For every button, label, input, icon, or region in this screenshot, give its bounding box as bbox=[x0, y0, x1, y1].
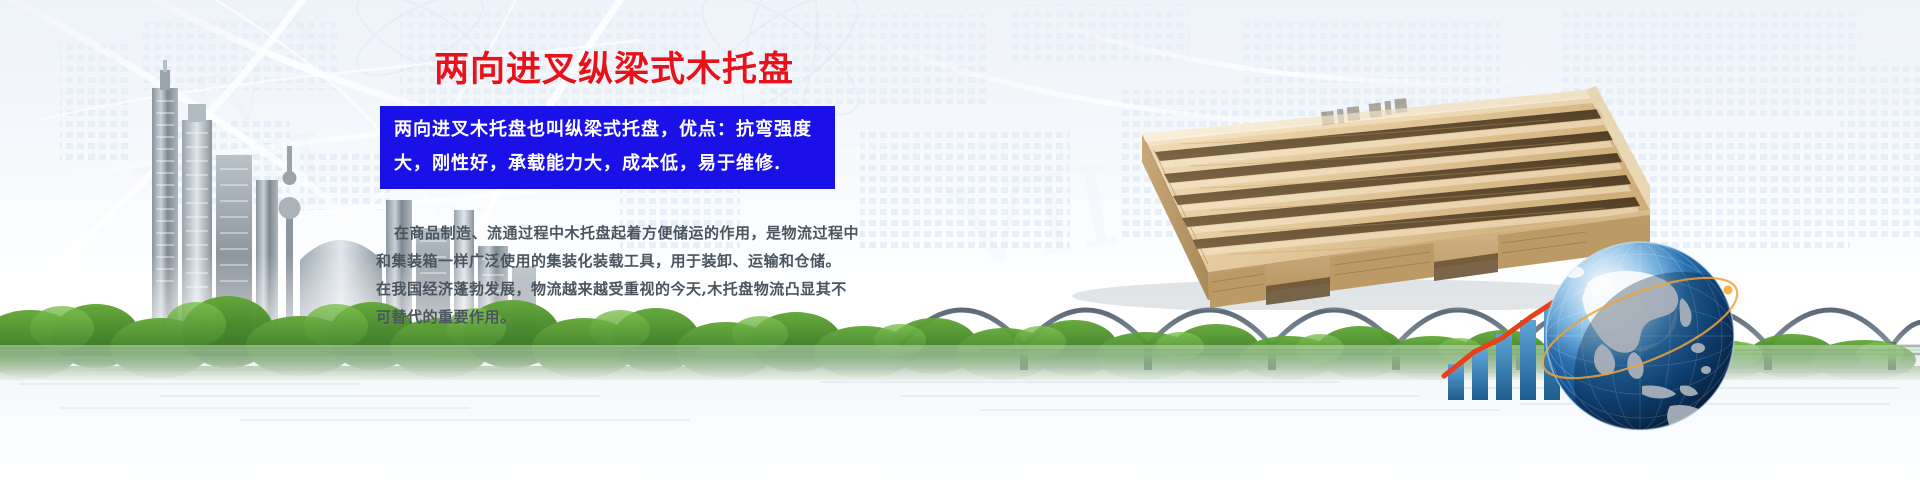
dotted-world-map-texture bbox=[0, 0, 1920, 330]
svg-text:IV: IV bbox=[184, 52, 277, 147]
earth-globe-illustration bbox=[1530, 228, 1750, 448]
arch-bridge-illustration bbox=[900, 250, 1920, 370]
svg-text:VIII: VIII bbox=[130, 109, 342, 263]
highlight-line-1: 两向进叉木托盘也叫纵梁式托盘，优点：抗弯强度 bbox=[394, 113, 823, 147]
banner-text-block: 两向进叉纵梁式木托盘 两向进叉木托盘也叫纵梁式托盘，优点：抗弯强度 大，刚性好，… bbox=[370, 50, 850, 331]
product-banner: VIII IV X VII II bbox=[0, 0, 1920, 500]
description-paragraph: 在商品制造、流通过程中木托盘起着方便储运的作用，是物流过程中 和集装箱一样广泛使… bbox=[376, 219, 846, 331]
watermark-glyphs: VIII IV X VII II bbox=[0, 0, 1920, 340]
svg-text:II: II bbox=[1157, 126, 1235, 229]
growth-bar-chart-icon bbox=[1440, 290, 1590, 400]
highlight-line-2: 大，刚性好，承载能力大，成本低，易于维修. bbox=[394, 147, 823, 181]
water-reflection-band bbox=[0, 345, 1920, 500]
description-line-4: 可替代的重要作用。 bbox=[376, 303, 846, 331]
svg-text:VII: VII bbox=[940, 141, 1128, 296]
tree-line-foliage bbox=[0, 270, 1920, 380]
water-ripple-streaks bbox=[0, 340, 1920, 460]
description-line-2: 和集装箱一样广泛使用的集装化装载工具，用于装卸、运输和仓储。 bbox=[376, 247, 846, 275]
description-line-1: 在商品制造、流通过程中木托盘起着方便储运的作用，是物流过程中 bbox=[376, 219, 846, 247]
description-line-3: 在我国经济蓬勃发展，物流越来越受重视的今天,木托盘物流凸显其不 bbox=[376, 275, 846, 303]
wooden-pallet-product-image bbox=[1030, 60, 1650, 310]
svg-text:X: X bbox=[282, 0, 336, 75]
highlight-callout-box: 两向进叉木托盘也叫纵梁式托盘，优点：抗弯强度 大，刚性好，承载能力大，成本低，易… bbox=[380, 106, 835, 189]
light-arc-decorations bbox=[0, 0, 1920, 360]
page-title: 两向进叉纵梁式木托盘 bbox=[370, 50, 850, 90]
